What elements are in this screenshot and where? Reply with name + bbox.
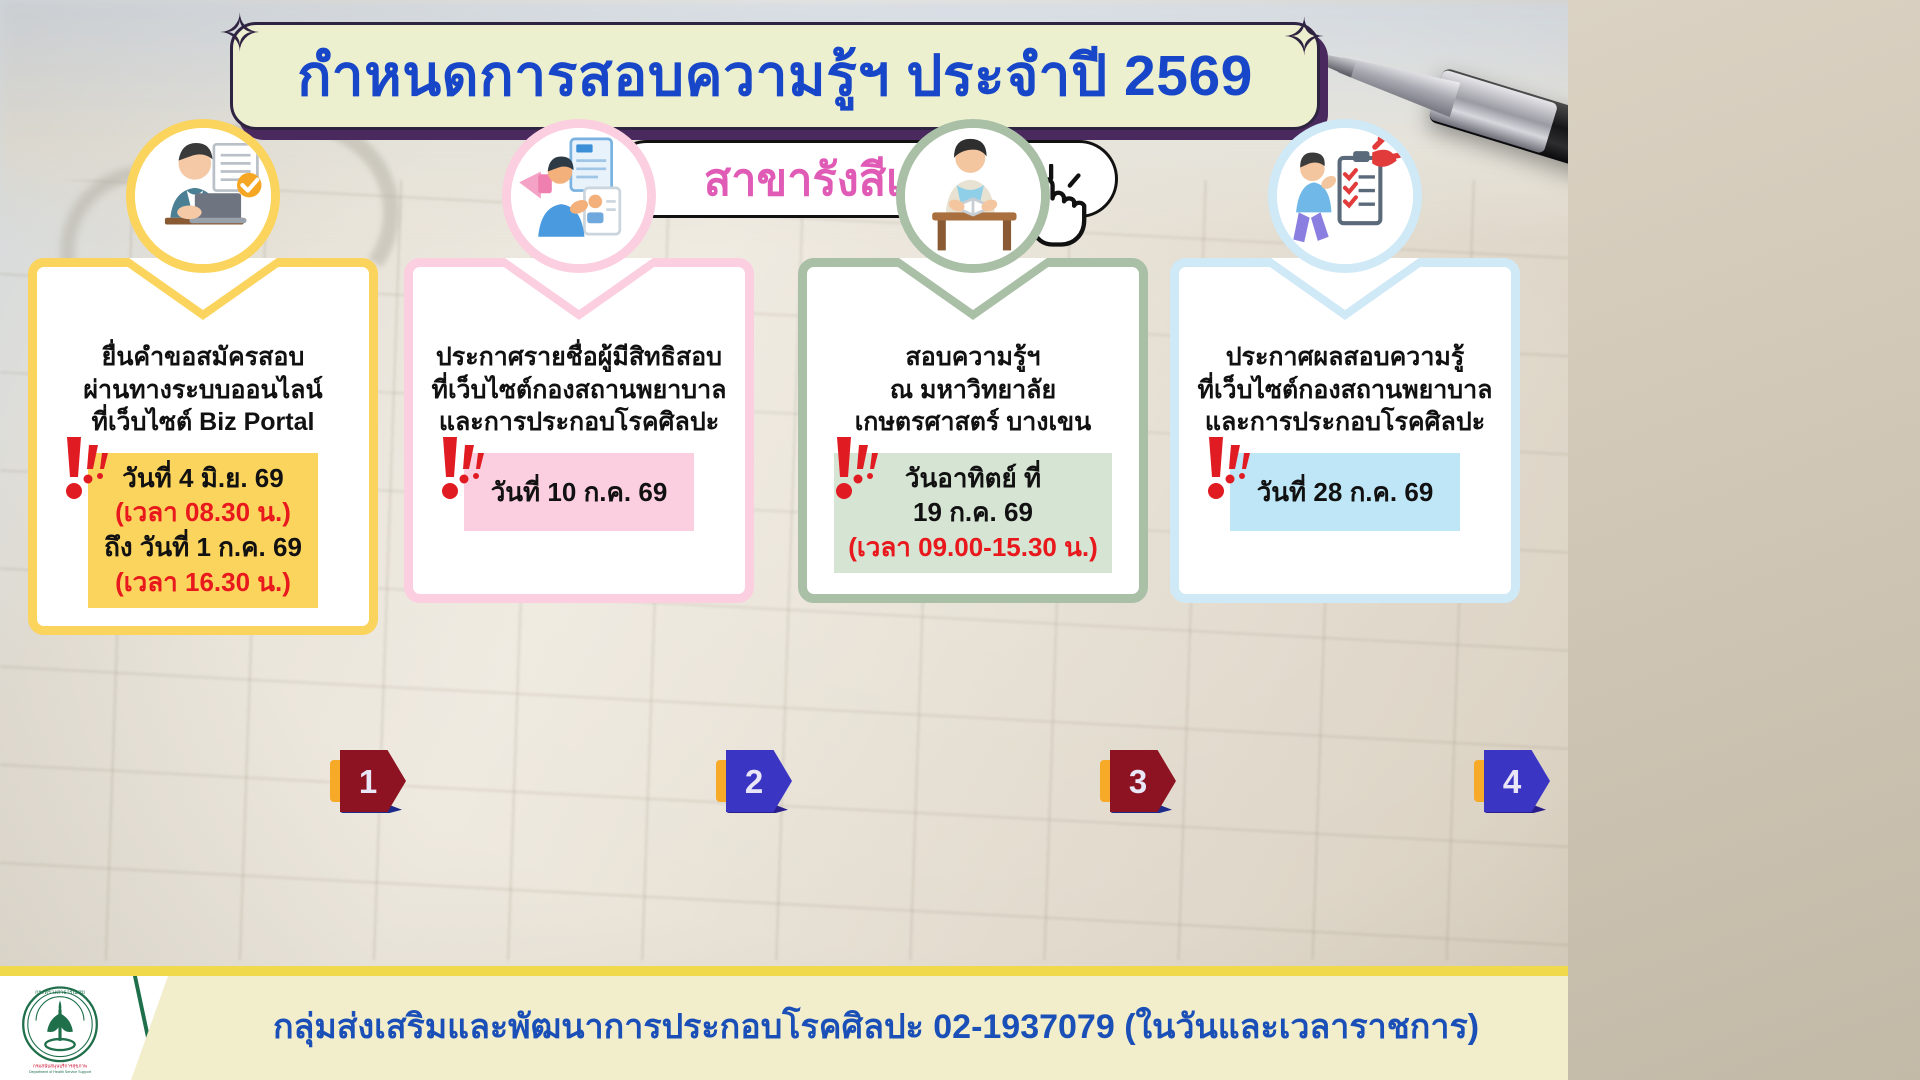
- alert-exclamation-icon: [825, 433, 883, 509]
- step-card-4[interactable]: ประกาศผลสอบความรู้ ที่เว็บไซต์กองสถานพยา…: [1170, 258, 1520, 603]
- alert-exclamation-icon: [55, 433, 113, 509]
- arrow-shape-icon: 4: [1484, 750, 1550, 812]
- step-card-3[interactable]: สอบความรู้ฯ ณ มหาวิทยาลัย เกษตรศาสตร์ บา…: [798, 258, 1148, 603]
- ministry-of-public-health-logo-icon: กระทรวงสาธารณสุข กรมสนับสนุนบริการสุขภาพ…: [14, 982, 106, 1074]
- date-line: วันที่ 10 ก.ค. 69: [478, 475, 680, 510]
- step-bubble-1: ยื่นคำขอสมัครสอบ ผ่านทางระบบออนไลน์ ที่เ…: [28, 258, 378, 635]
- step-body-1: ยื่นคำขอสมัครสอบ ผ่านทางระบบออนไลน์ ที่เ…: [83, 341, 322, 439]
- step-bubble-3: สอบความรู้ฯ ณ มหาวิทยาลัย เกษตรศาสตร์ บา…: [798, 258, 1148, 603]
- sparkle-left-icon: ✧: [218, 8, 262, 60]
- date-line: ถึง วันที่ 1 ก.ค. 69: [102, 530, 304, 565]
- svg-text:กระทรวงสาธารณสุข: กระทรวงสาธารณสุข: [35, 989, 85, 996]
- arrow-number: 2: [745, 765, 763, 798]
- svg-text:Department of Health Service S: Department of Health Service Support: [29, 1070, 91, 1074]
- arrow-shape-icon: 2: [726, 750, 792, 812]
- step-date-box-4: วันที่ 28 ก.ค. 69: [1230, 453, 1460, 532]
- step-date-wrap-4: วันที่ 28 ก.ค. 69: [1193, 453, 1497, 532]
- step-card-2[interactable]: ประกาศรายชื่อผู้มีสิทธิสอบ ที่เว็บไซต์กอ…: [404, 258, 754, 603]
- step-card-1[interactable]: ยื่นคำขอสมัครสอบ ผ่านทางระบบออนไลน์ ที่เ…: [28, 258, 378, 635]
- step-body-3: สอบความรู้ฯ ณ มหาวิทยาลัย เกษตรศาสตร์ บา…: [855, 341, 1091, 439]
- svg-text:กรมสนับสนุนบริการสุขภาพ: กรมสนับสนุนบริการสุขภาพ: [33, 1063, 87, 1070]
- footer-contact-text: กลุ่มส่งเสริมและพัฒนาการประกอบโรคศิลปะ 0…: [200, 1009, 1552, 1046]
- alert-exclamation-icon: [431, 433, 489, 509]
- student-exam-desk-icon: [896, 119, 1050, 273]
- step-arrow-2: 2: [716, 750, 796, 812]
- arrow-number: 3: [1129, 765, 1147, 798]
- date-line: (เวลา 16.30 น.): [102, 565, 304, 600]
- step-bubble-4: ประกาศผลสอบความรู้ ที่เว็บไซต์กองสถานพยา…: [1170, 258, 1520, 603]
- plate-edge-divider: [133, 976, 159, 1080]
- title-text: กำหนดการสอบความรู้ฯ ประจำปี 2569: [297, 48, 1253, 105]
- sparkle-right-icon: ✧: [1282, 12, 1326, 64]
- background-right-fill: [1568, 0, 1920, 1080]
- date-line: วันอาทิตย์ ที่: [848, 461, 1098, 496]
- step-body-2: ประกาศรายชื่อผู้มีสิทธิสอบ ที่เว็บไซต์กอ…: [432, 341, 727, 439]
- timeline-steps: ยื่นคำขอสมัครสอบ ผ่านทางระบบออนไลน์ ที่เ…: [0, 258, 1568, 758]
- date-line: วันที่ 4 มิ.ย. 69: [102, 461, 304, 496]
- arrow-number: 4: [1503, 765, 1521, 798]
- arrow-shape-icon: 3: [1110, 750, 1176, 812]
- step-date-wrap-3: วันอาทิตย์ ที่ 19 ก.ค. 69 (เวลา 09.00-15…: [821, 453, 1125, 573]
- arrow-number: 1: [359, 765, 377, 798]
- alert-exclamation-icon: [1197, 433, 1255, 509]
- results-announcement-checklist-icon: [1268, 119, 1422, 273]
- footer-contact-bar: กระทรวงสาธารณสุข กรมสนับสนุนบริการสุขภาพ…: [0, 972, 1568, 1080]
- step-arrow-1: 1: [330, 750, 410, 812]
- step-arrow-4: 4: [1474, 750, 1554, 812]
- page-title: กำหนดการสอบความรู้ฯ ประจำปี 2569 ✧ ✧: [230, 22, 1320, 130]
- step-date-box-1: วันที่ 4 มิ.ย. 69 (เวลา 08.30 น.) ถึง วั…: [88, 453, 318, 608]
- date-line: (เวลา 08.30 น.): [102, 495, 304, 530]
- step-date-wrap-2: วันที่ 10 ก.ค. 69: [427, 453, 731, 532]
- arrow-shape-icon: 1: [340, 750, 406, 812]
- step-bubble-2: ประกาศรายชื่อผู้มีสิทธิสอบ ที่เว็บไซต์กอ…: [404, 258, 754, 603]
- title-box: กำหนดการสอบความรู้ฯ ประจำปี 2569: [230, 22, 1320, 130]
- date-line: 19 ก.ค. 69: [848, 495, 1098, 530]
- person-laptop-registration-icon: [126, 119, 280, 273]
- step-date-wrap-1: วันที่ 4 มิ.ย. 69 (เวลา 08.30 น.) ถึง วั…: [51, 453, 355, 608]
- ministry-logo-plate: กระทรวงสาธารณสุข กรมสนับสนุนบริการสุขภาพ…: [0, 976, 168, 1080]
- step-arrow-3: 3: [1100, 750, 1180, 812]
- step-date-box-2: วันที่ 10 ก.ค. 69: [464, 453, 694, 532]
- date-line: (เวลา 09.00-15.30 น.): [848, 530, 1098, 565]
- announcement-candidate-list-icon: [502, 119, 656, 273]
- date-line: วันที่ 28 ก.ค. 69: [1244, 475, 1446, 510]
- step-body-4: ประกาศผลสอบความรู้ ที่เว็บไซต์กองสถานพยา…: [1198, 341, 1493, 439]
